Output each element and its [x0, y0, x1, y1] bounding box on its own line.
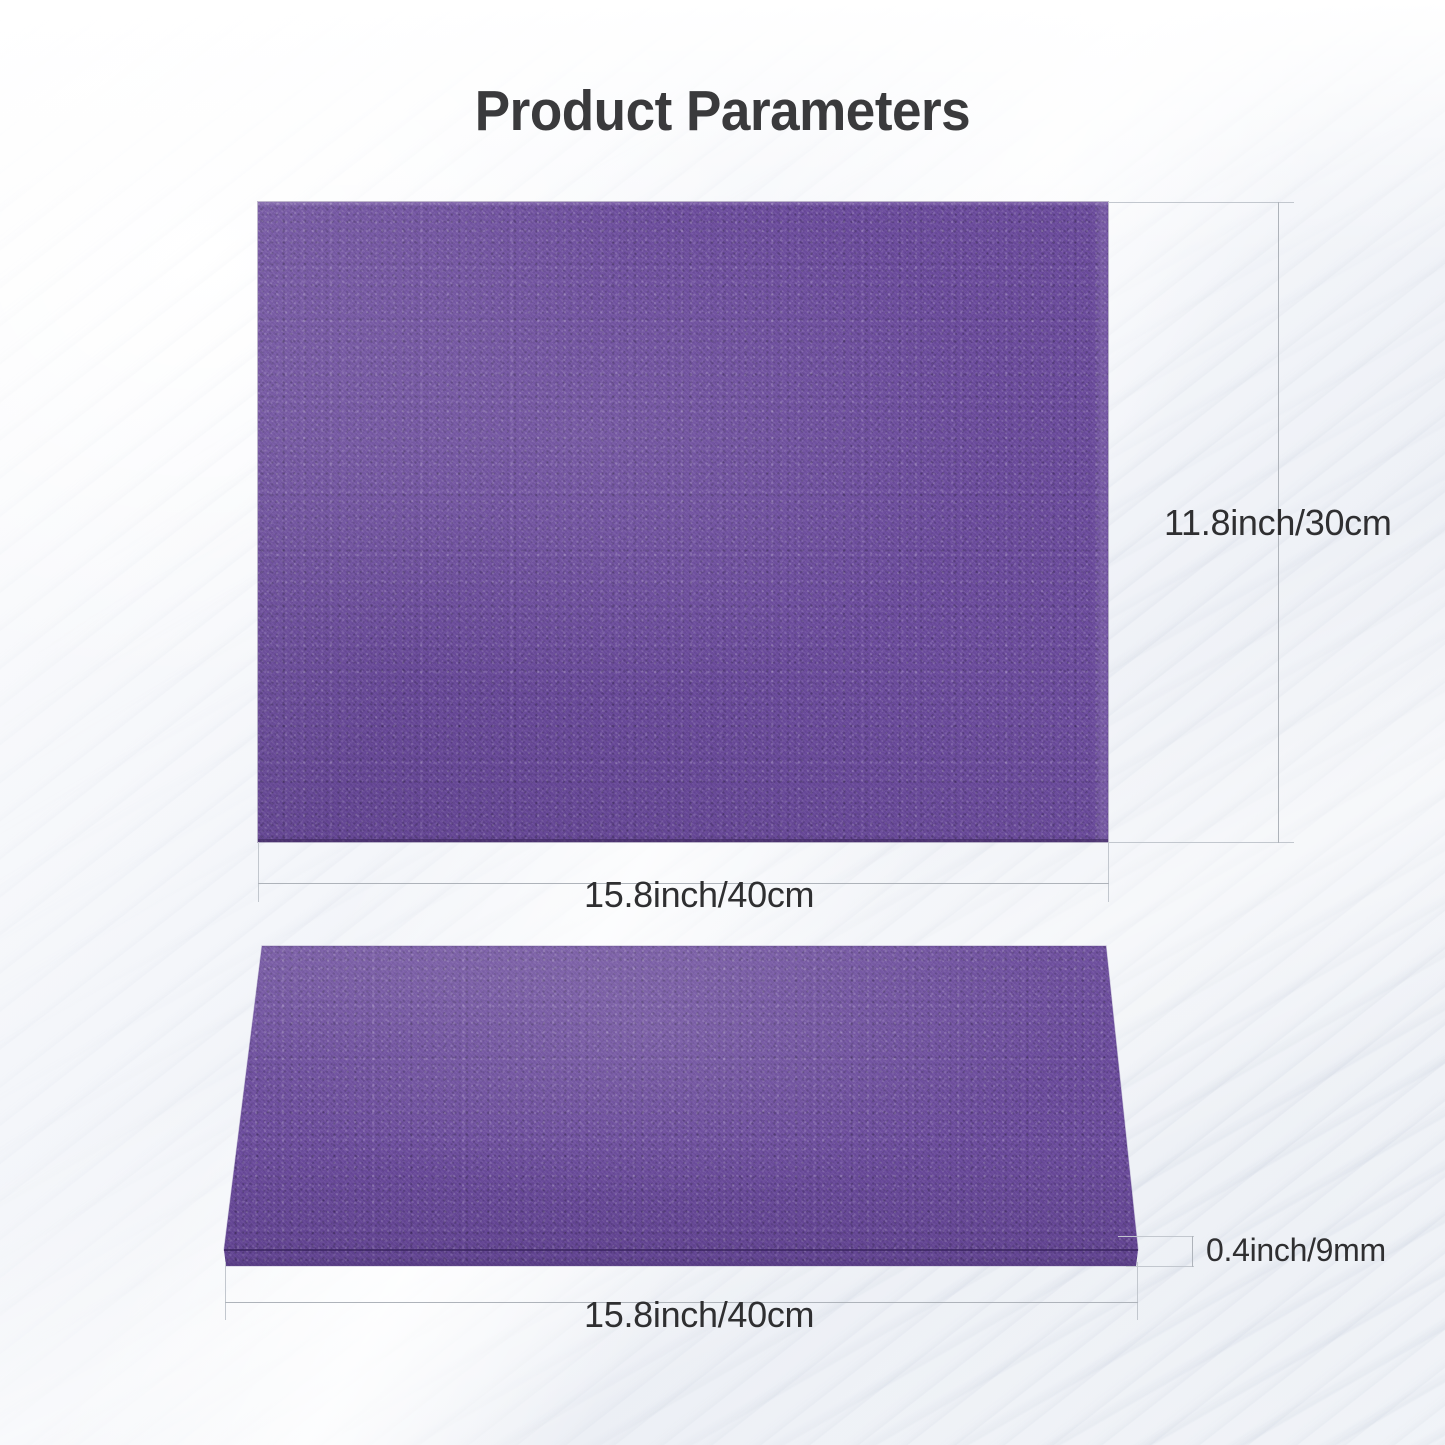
width-perspective-dim-label: 15.8inch/40cm: [578, 1294, 820, 1336]
width-front-dim-extension-right: [1108, 842, 1109, 902]
panel-perspective-top-face: [210, 940, 1160, 1262]
width-perspective-dim-extension-left: [225, 1262, 226, 1320]
height-dim-extension-bottom: [1108, 842, 1294, 843]
panel-front-view: [258, 202, 1108, 842]
width-front-dim-label: 15.8inch/40cm: [578, 874, 820, 916]
panel-right-edge-bevel: [1094, 202, 1108, 842]
thickness-dim-label: 0.4inch/9mm: [1206, 1232, 1386, 1269]
panel-sheen: [258, 202, 1108, 842]
width-front-dim-extension-left: [258, 842, 259, 902]
height-dim-extension-top: [1108, 202, 1294, 203]
panel-perspective-sheen: [210, 940, 1160, 1262]
panel-bottom-edge-shadow: [258, 839, 1108, 842]
panel-top-edge-highlight: [258, 202, 1108, 207]
thickness-dim-extension-top: [1118, 1236, 1194, 1237]
page-title: Product Parameters: [51, 78, 1395, 144]
width-perspective-dim-extension-right: [1137, 1262, 1138, 1320]
product-parameters-diagram: Product Parameters 11.8inch/30cm 15.8inc…: [0, 0, 1445, 1445]
height-dim-label: 11.8inch/30cm: [1158, 502, 1398, 544]
panel-perspective-view: [210, 940, 1160, 1280]
thickness-dim-line: [1192, 1236, 1193, 1267]
